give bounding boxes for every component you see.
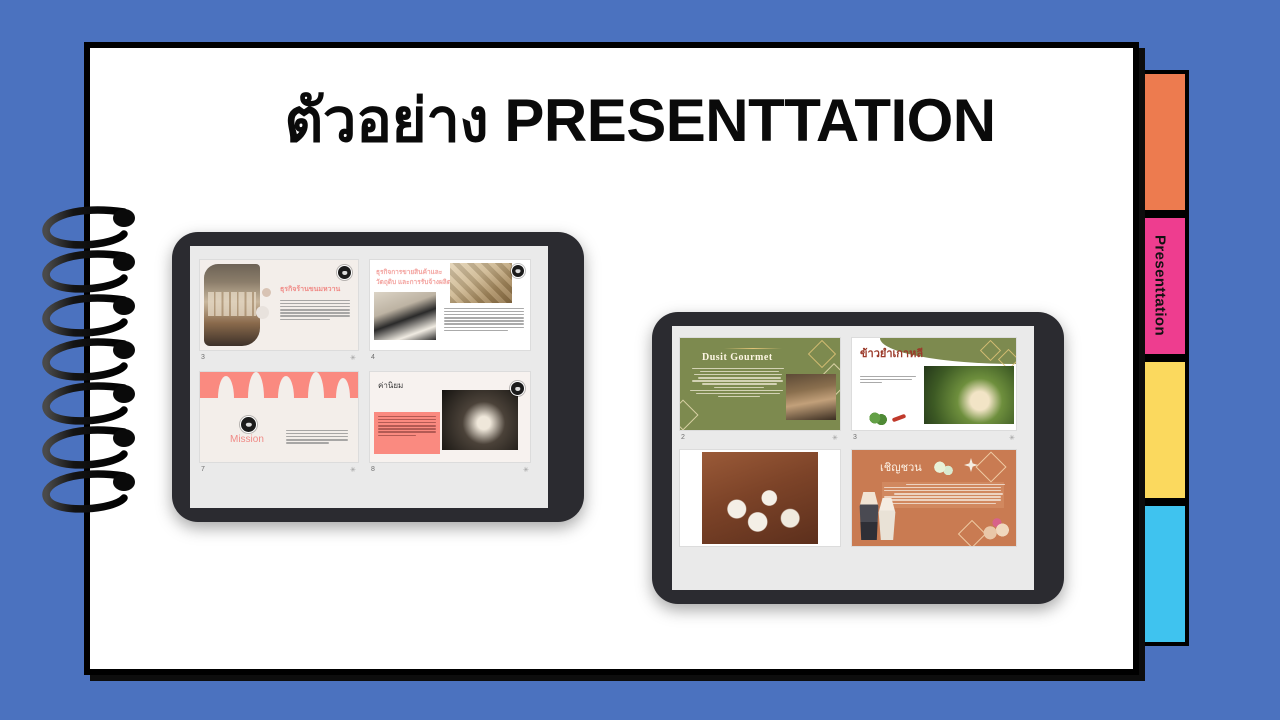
star-icon: ✳ <box>1009 434 1015 442</box>
slide-thumbnail[interactable]: เชิญชวน <box>852 450 1016 546</box>
slide-thumbnail[interactable]: Mission <box>200 372 358 462</box>
slide-thumbnail[interactable] <box>680 450 840 546</box>
slide-thumbnail[interactable]: Dusit Gourmet <box>680 338 840 430</box>
slide-body-text <box>280 300 350 322</box>
photo-cafe-interior <box>204 264 260 346</box>
callout-box <box>374 412 440 454</box>
decor-flowers-icon <box>932 460 958 478</box>
photo-dessert <box>442 390 518 450</box>
brand-logo-icon <box>510 381 525 396</box>
slide-number: 8 <box>371 466 375 473</box>
photo-wooden-boxes <box>450 263 512 303</box>
photo-korean-salad <box>924 366 1014 424</box>
brand-logo-icon <box>511 264 525 278</box>
slide-sorter-right: Dusit Gourmet 2 <box>672 326 1034 590</box>
star-icon: ✳ <box>350 466 356 474</box>
decor-drip <box>200 372 358 398</box>
decor-herb-icon <box>866 410 888 426</box>
decor-dot <box>256 306 269 319</box>
ornament-icon <box>680 399 699 430</box>
decor-chili-icon <box>892 414 907 423</box>
slide-sorter-left: ธุรกิจร้านขนมหวาน 3 ✳ ธุรกิจการขายสินค้า… <box>190 246 548 508</box>
slide-thumbnail[interactable]: ธุรกิจร้านขนมหวาน <box>200 260 358 350</box>
slide-thumbnail[interactable]: ข้าวยำเกาหลี <box>852 338 1016 430</box>
divider <box>724 348 782 349</box>
spiral-binding-icon <box>28 196 146 522</box>
slide-body-text <box>860 376 916 385</box>
star-icon: ✳ <box>832 434 838 442</box>
slide-number: 3 <box>201 354 205 361</box>
slide-thumbnail[interactable]: ธุรกิจการขายสินค้าและ วัตถุดิบ และการรับ… <box>370 260 530 350</box>
photo-food-table <box>702 452 818 544</box>
decor-basket-icon <box>980 516 1014 544</box>
photo-restaurant-interior <box>786 374 836 420</box>
slide-number: 2 <box>681 434 685 441</box>
slide-number: 4 <box>371 354 375 361</box>
slide-body-text <box>286 430 348 445</box>
brand-logo-icon <box>337 265 352 280</box>
slide-body-text <box>444 308 524 333</box>
slide-thumbnail[interactable]: ค่านิยม <box>370 372 530 462</box>
slide-title: ธุรกิจร้านขนมหวาน <box>280 284 340 295</box>
photo-packaging <box>374 292 436 340</box>
tablet-right[interactable]: Dusit Gourmet 2 <box>652 312 1064 604</box>
slide-title: เชิญชวน <box>880 458 922 476</box>
poster-canvas: Presenttation ตัวอย่าง PRESENTTATION <box>0 0 1280 720</box>
slide-body-text <box>688 368 784 399</box>
page-title: ตัวอย่าง PRESENTTATION <box>0 88 1280 154</box>
slide-body-text <box>882 482 1004 508</box>
tablet-left-screen[interactable]: ธุรกิจร้านขนมหวาน 3 ✳ ธุรกิจการขายสินค้า… <box>190 246 548 508</box>
slide-number: 7 <box>201 466 205 473</box>
slide-title: Mission <box>230 434 264 445</box>
slide-title: ค่านิยม <box>378 379 403 392</box>
star-icon: ✳ <box>523 466 529 474</box>
slide-title: Dusit Gourmet <box>702 352 773 363</box>
ornament-icon <box>975 451 1006 482</box>
index-tab-pink-label: Presenttation <box>1152 235 1169 336</box>
slide-number: 3 <box>853 434 857 441</box>
decor-dot <box>262 288 271 297</box>
tablet-right-screen[interactable]: Dusit Gourmet 2 <box>672 326 1034 590</box>
decor-person-icon <box>856 492 882 540</box>
slide-title: ข้าวยำเกาหลี <box>860 344 923 362</box>
slide-title: ธุรกิจการขายสินค้าและ วัตถุดิบ และการรับ… <box>376 268 451 288</box>
brand-logo-icon <box>240 416 257 433</box>
decor-leaf-icon <box>964 458 978 472</box>
tablet-left[interactable]: ธุรกิจร้านขนมหวาน 3 ✳ ธุรกิจการขายสินค้า… <box>172 232 584 522</box>
star-icon: ✳ <box>350 354 356 362</box>
